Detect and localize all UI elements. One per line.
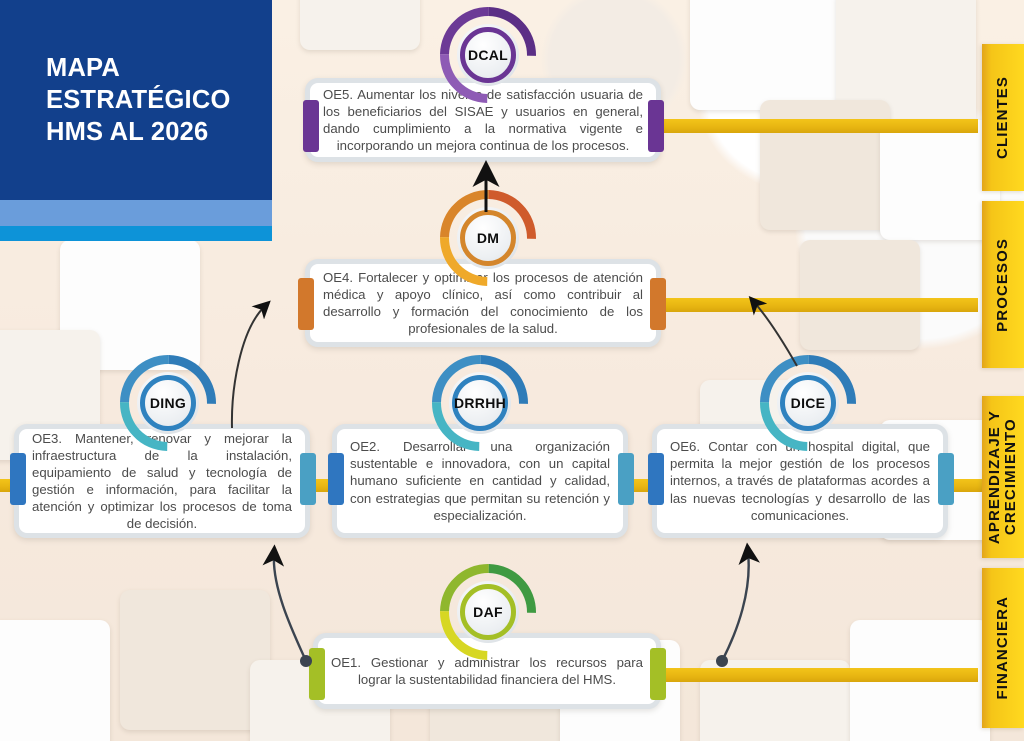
perspective-label: FINANCIERA	[995, 596, 1011, 700]
perspective-financiera[interactable]: FINANCIERA	[982, 568, 1024, 728]
objective-tab-oe5-right	[648, 100, 664, 152]
objective-tab-oe3-left	[10, 453, 26, 505]
badge-ding[interactable]: DING	[118, 353, 218, 453]
badge-label: DRRHH	[430, 353, 530, 453]
badge-daf[interactable]: DAF	[438, 562, 538, 662]
objective-tab-oe6-right	[938, 453, 954, 505]
badge-label: DCAL	[438, 5, 538, 105]
objective-tab-oe4-left	[298, 278, 314, 330]
badge-label: DING	[118, 353, 218, 453]
title-accent-bar	[0, 226, 272, 241]
badge-label: DM	[438, 188, 538, 288]
perspective-label: CLIENTES	[995, 76, 1011, 159]
objective-tab-oe1-right	[650, 648, 666, 700]
badge-label: DAF	[438, 562, 538, 662]
strategic-map-canvas: MAPA ESTRATÉGICO HMS AL 2026 CLIENTES PR…	[0, 0, 1024, 741]
title-accent-bar-light	[0, 200, 272, 226]
objective-tab-oe5-left	[303, 100, 319, 152]
objective-tab-oe2-right	[618, 453, 634, 505]
perspective-aprendizaje[interactable]: APRENDIZAJE Y CRECIMIENTO	[982, 396, 1024, 558]
objective-tab-oe1-left	[309, 648, 325, 700]
badge-label: DICE	[758, 353, 858, 453]
perspective-label: APRENDIZAJE Y CRECIMIENTO	[987, 410, 1019, 544]
perspective-procesos[interactable]: PROCESOS	[982, 201, 1024, 368]
objective-tab-oe3-right	[300, 453, 316, 505]
title-block: MAPA ESTRATÉGICO HMS AL 2026	[0, 0, 272, 200]
rail-procesos	[660, 298, 978, 312]
objective-tab-oe4-right	[650, 278, 666, 330]
badge-dice[interactable]: DICE	[758, 353, 858, 453]
badge-dcal[interactable]: DCAL	[438, 5, 538, 105]
perspective-label: PROCESOS	[995, 238, 1011, 332]
rail-financiera	[660, 668, 978, 682]
objective-tab-oe6-left	[648, 453, 664, 505]
badge-dm[interactable]: DM	[438, 188, 538, 288]
objective-tab-oe2-left	[328, 453, 344, 505]
page-title: MAPA ESTRATÉGICO HMS AL 2026	[46, 52, 231, 148]
badge-drrhh[interactable]: DRRHH	[430, 353, 530, 453]
perspective-clientes[interactable]: CLIENTES	[982, 44, 1024, 191]
rail-clientes	[660, 119, 978, 133]
